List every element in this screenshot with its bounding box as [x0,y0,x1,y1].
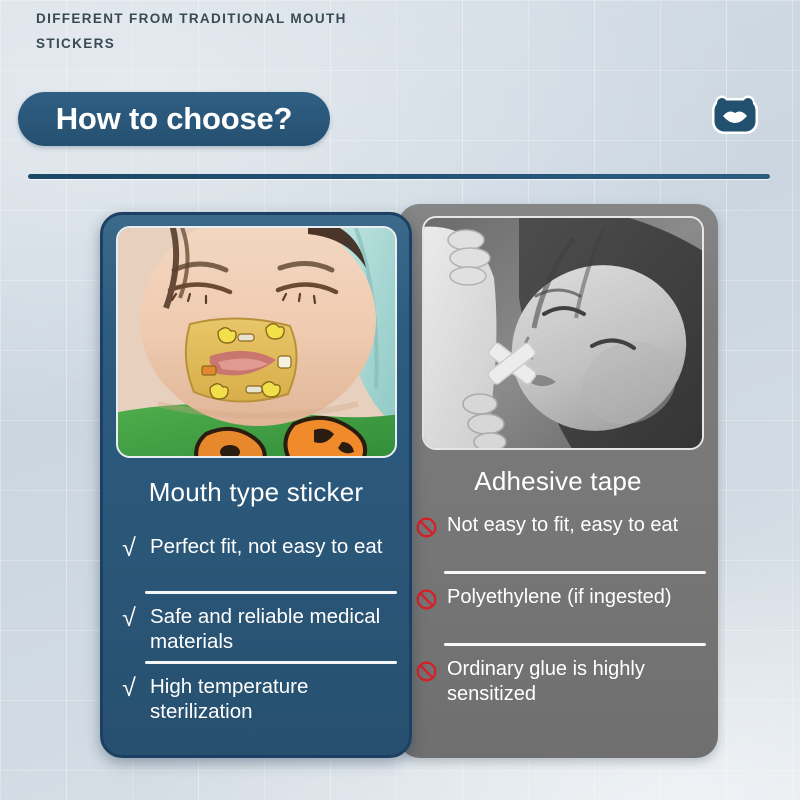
mouth-sticker-photo [116,226,397,458]
header-divider [28,174,770,179]
adhesive-tape-title: Adhesive tape [398,466,718,497]
page-title-badge: How to choose? [18,92,330,146]
list-item-label: Not easy to fit, easy to eat [447,512,678,538]
adhesive-tape-feature-list: Not easy to fit, easy to eat Polyethylen… [398,512,718,708]
list-separator [145,661,397,664]
list-item: √ High temperature sterilization [117,673,403,725]
prohibition-icon [414,586,438,612]
mouth-sticker-title: Mouth type sticker [103,477,409,508]
list-separator [444,571,706,574]
list-item-label: Polyethylene (if ingested) [447,584,672,610]
list-separator [145,591,397,594]
prohibition-icon [414,658,438,684]
mouth-sticker-feature-list: √ Perfect fit, not easy to eat √ Safe an… [103,533,409,725]
mouth-sticker-icon [709,93,761,137]
list-item-label: Safe and reliable medical materials [150,603,403,654]
list-item: √ Safe and reliable medical materials [117,603,403,655]
list-item-label: Ordinary glue is highly sensitized [447,656,710,707]
page-title: How to choose? [56,101,293,137]
prohibition-icon [414,514,438,540]
check-icon: √ [117,675,141,701]
list-separator [444,643,706,646]
mouth-type-sticker-card: Mouth type sticker √ Perfect fit, not ea… [100,212,412,758]
check-icon: √ [117,535,141,561]
list-item-label: High temperature sterilization [150,673,403,724]
adhesive-tape-photo [422,216,704,450]
check-icon: √ [117,605,141,631]
list-item: √ Perfect fit, not easy to eat [117,533,403,585]
list-item: Not easy to fit, easy to eat [414,512,710,564]
adhesive-tape-card: Adhesive tape Not easy to fit, easy to e… [398,204,718,758]
list-item: Ordinary glue is highly sensitized [414,656,710,708]
list-item: Polyethylene (if ingested) [414,584,710,636]
list-item-label: Perfect fit, not easy to eat [150,533,382,559]
eyebrow-text: DIFFERENT FROM TRADITIONAL MOUTH STICKER… [36,6,356,56]
